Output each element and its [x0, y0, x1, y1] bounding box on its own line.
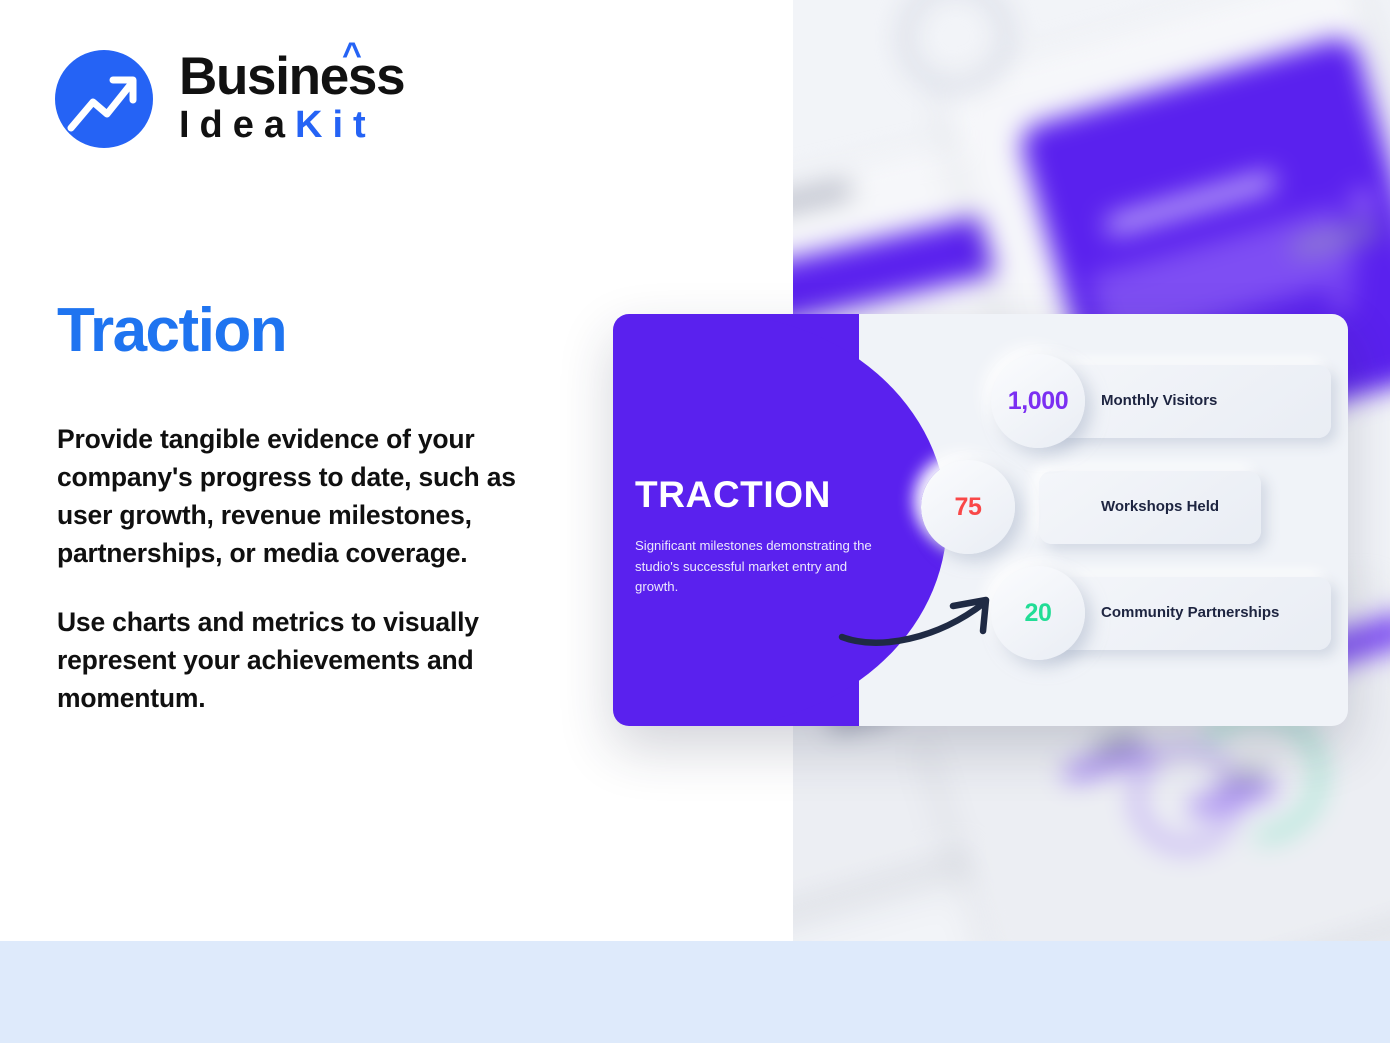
metric-value: 20: [1024, 599, 1051, 628]
metric-row[interactable]: Community Partnerships 20: [991, 560, 1331, 666]
metric-value: 1,000: [1008, 387, 1069, 416]
page-title: Traction: [57, 295, 286, 366]
brand-line-2-accent: Kit: [295, 104, 376, 146]
slide-purple-curve: [709, 314, 947, 726]
metric-value: 75: [954, 493, 981, 522]
bg-chip-purple-dot-b: [1333, 290, 1351, 308]
description-paragraph-2: Use charts and metrics to visually repre…: [57, 603, 567, 717]
slide-title: TRACTION: [635, 474, 831, 516]
curved-arrow-right-icon: [838, 589, 1003, 654]
brand-logo: Business ^ IdeaKit: [55, 50, 404, 148]
traction-slide-card[interactable]: TRACTION Significant milestones demonstr…: [613, 314, 1348, 726]
metric-label: Workshops Held: [1039, 497, 1219, 516]
metric-row[interactable]: Workshops Held 75: [991, 454, 1331, 560]
description-block: Provide tangible evidence of your compan…: [57, 420, 567, 717]
metric-value-circle: 1,000: [991, 354, 1085, 448]
bottom-accent-band: [0, 941, 1390, 1043]
brand-line-2-text: Idea: [179, 104, 295, 146]
description-paragraph-1: Provide tangible evidence of your compan…: [57, 420, 567, 573]
brand-line-2: IdeaKit: [179, 105, 404, 147]
brand-line-1: Business ^: [179, 51, 404, 103]
trending-up-arrow-icon: [55, 50, 153, 148]
brand-line-1-text: Business: [179, 47, 404, 106]
brand-wordmark: Business ^ IdeaKit: [179, 51, 404, 147]
slide-preview-stage: Business ^ IdeaKit Traction Provide tang…: [0, 0, 1390, 1043]
metric-value-circle: 75: [921, 460, 1015, 554]
metric-row[interactable]: Monthly Visitors 1,000: [991, 348, 1331, 454]
brand-circumflex-accent: ^: [342, 38, 361, 72]
metric-value-circle: 20: [991, 566, 1085, 660]
bg-chip-purple-dot-a: [1351, 190, 1375, 214]
metric-label-pill: Workshops Held: [1039, 471, 1261, 544]
metrics-list: Monthly Visitors 1,000 Workshops Held 75…: [991, 348, 1331, 666]
